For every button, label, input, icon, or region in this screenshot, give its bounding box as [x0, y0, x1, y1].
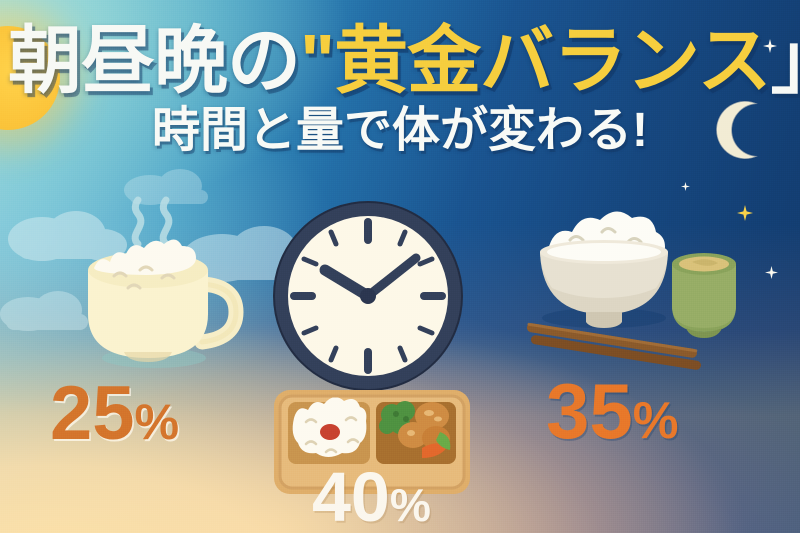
dinner-percent-symbol: %	[633, 391, 679, 449]
infographic-canvas: 朝昼晩の"黄金バランス」 時間と量で体が変わる! 25% 40% 35%	[0, 0, 800, 533]
star-icon	[765, 266, 778, 279]
breakfast-percent-value: 25	[50, 371, 135, 456]
rice-bowl-icon	[524, 206, 744, 371]
breakfast-percent-symbol: %	[135, 394, 180, 450]
wall-clock-icon	[268, 196, 468, 396]
steaming-mug-icon	[62, 192, 252, 372]
star-icon	[681, 182, 690, 191]
lunch-percent-label: 40%	[312, 462, 431, 532]
crescent-moon-icon	[712, 100, 772, 160]
star-icon	[763, 39, 777, 53]
lunch-percent-value: 40	[312, 458, 390, 533]
breakfast-percent-label: 25%	[50, 376, 179, 452]
dinner-percent-label: 35%	[546, 372, 679, 450]
lunch-percent-symbol: %	[390, 479, 431, 531]
dinner-percent-value: 35	[546, 367, 633, 455]
